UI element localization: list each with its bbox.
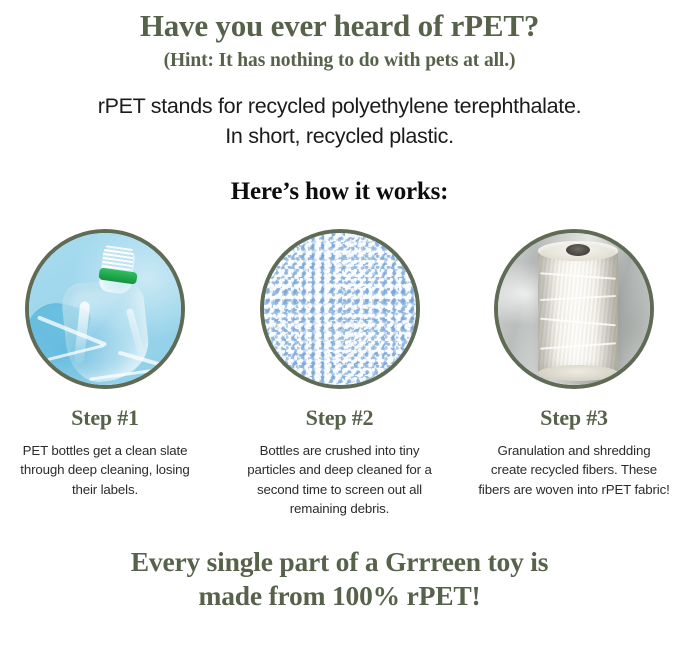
step-1-image-circle: [25, 229, 185, 389]
step-card-3: Step #3 Granulation and shredding create…: [477, 229, 671, 519]
step-1-label: Step #1: [71, 405, 139, 431]
step-1-description: PET bottles get a clean slate through de…: [9, 441, 201, 500]
step-2-description: Bottles are crushed into tiny particles …: [244, 441, 436, 519]
step-3-image-circle: [494, 229, 654, 389]
step-card-1: Step #1 PET bottles get a clean slate th…: [8, 229, 202, 519]
step-card-2: Step #2 Bottles are crushed into tiny pa…: [243, 229, 437, 519]
how-it-works-title: Here’s how it works:: [231, 178, 449, 206]
lede-line-1: rPET stands for recycled polyethylene te…: [98, 94, 582, 118]
footer-line-1: Every single part of a Grrreen toy is: [20, 545, 660, 579]
lede-line-2: In short, recycled plastic.: [10, 121, 670, 152]
spool-body-shape: [538, 249, 618, 375]
step-2-image-circle: [260, 229, 420, 389]
step-3-label: Step #3: [540, 405, 608, 431]
bottle-cap-threads-shape: [102, 245, 135, 271]
white-thread-spool-photo: [498, 233, 650, 385]
spool-bottom-shape: [538, 365, 618, 381]
infographic-page: Have you ever heard of rPET? (Hint: It h…: [0, 0, 679, 649]
page-headline: Have you ever heard of rPET?: [140, 9, 539, 44]
footer-line-2: made from 100% rPET!: [20, 579, 660, 613]
footer-statement: Every single part of a Grrreen toy is ma…: [20, 545, 660, 614]
spool-center-hole: [566, 244, 590, 256]
step-3-description: Granulation and shredding create recycle…: [478, 441, 670, 500]
steps-row: Step #1 PET bottles get a clean slate th…: [0, 229, 679, 519]
step-2-label: Step #2: [306, 405, 374, 431]
lede-paragraph: rPET stands for recycled polyethylene te…: [10, 91, 670, 152]
page-subheadline: (Hint: It has nothing to do with pets at…: [164, 50, 516, 72]
crushed-plastic-bottle-photo: [29, 233, 181, 385]
blue-plastic-flakes-photo: [264, 233, 416, 385]
